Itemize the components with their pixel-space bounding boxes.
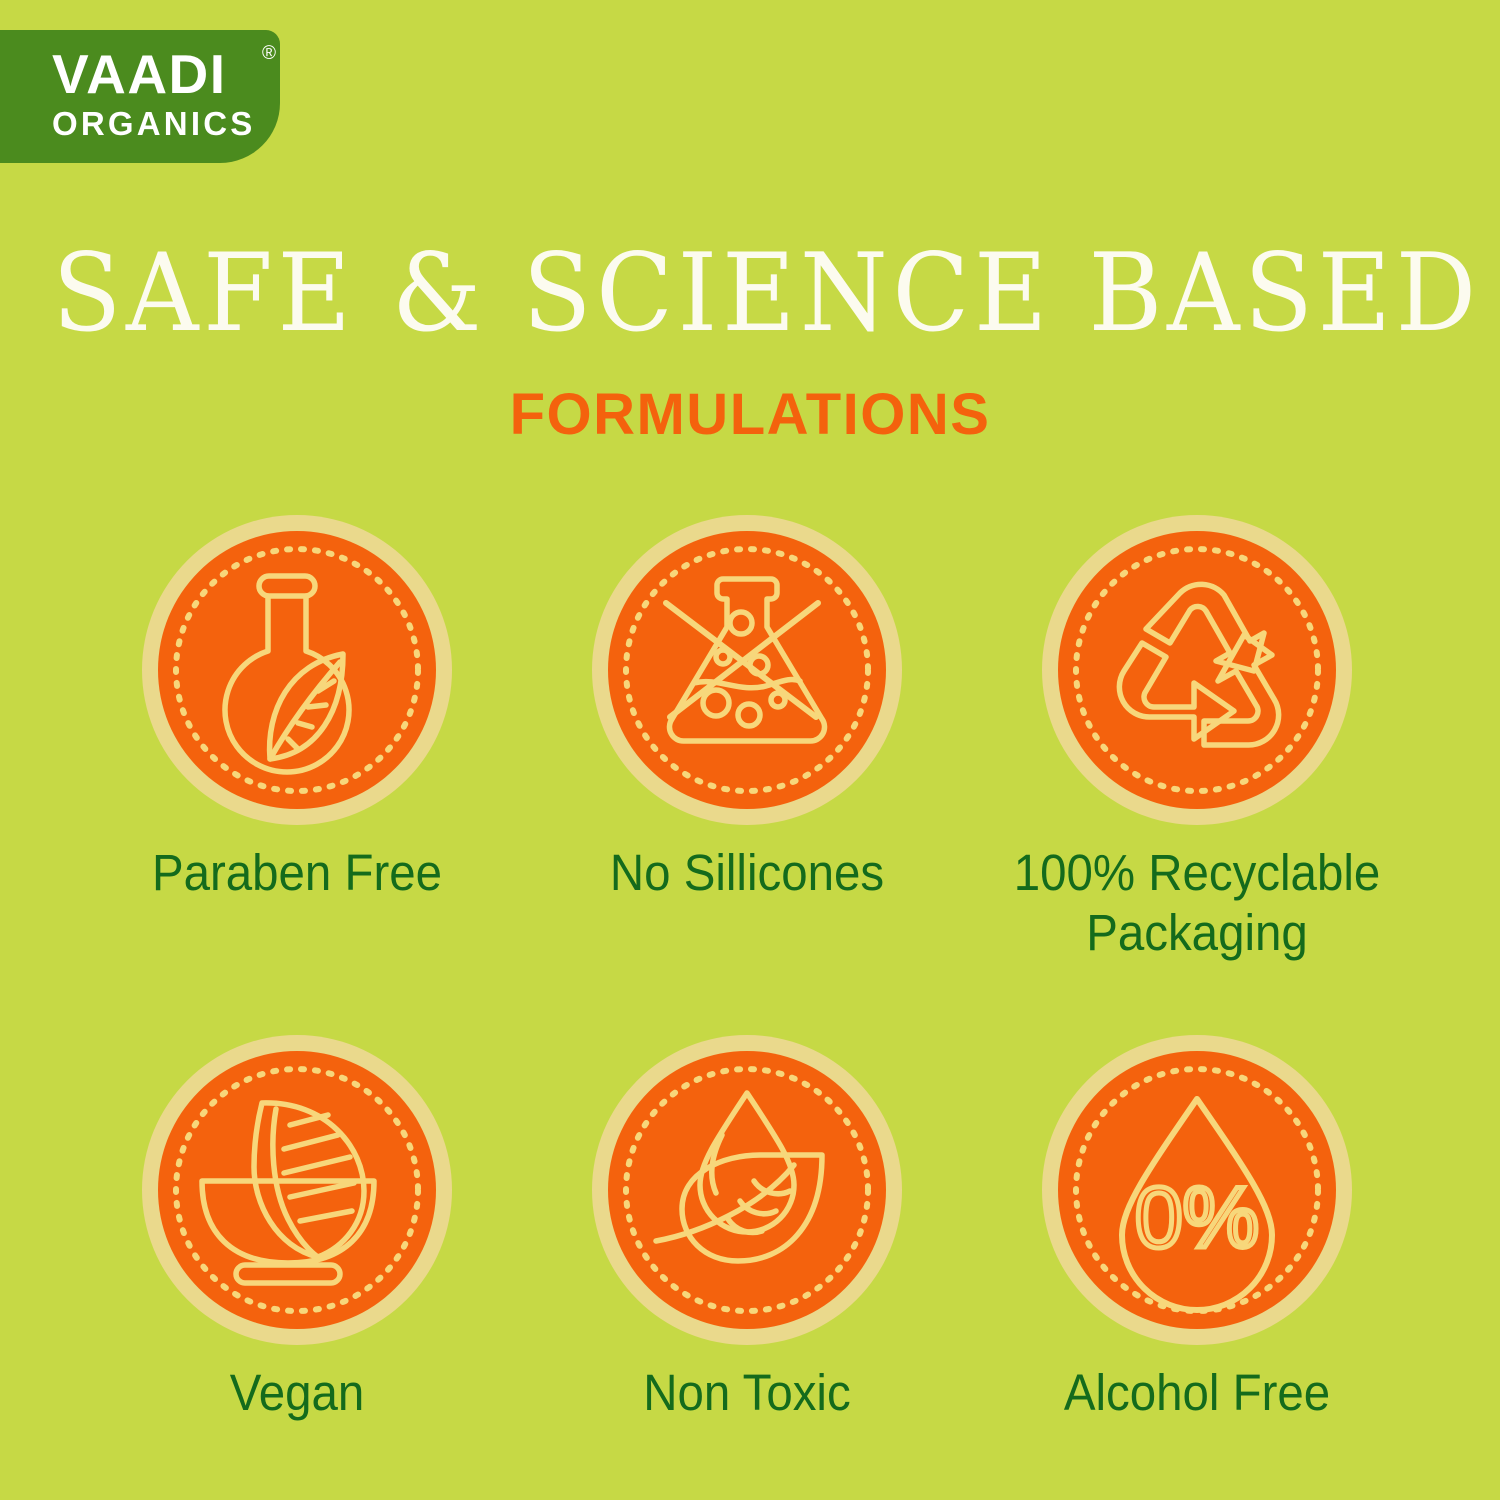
feature-badge (142, 1035, 452, 1345)
feature-badge (592, 1035, 902, 1345)
feature-label: Non Toxic (538, 1363, 957, 1423)
feature-label: Alcohol Free (988, 1363, 1407, 1423)
feature-label: 100% Recyclable Packaging (988, 843, 1407, 963)
brand-name: VAADI ® (52, 46, 255, 102)
feature-card-non-toxic: Non Toxic (522, 1035, 972, 1423)
droplet-on-leaf-icon (608, 1051, 886, 1329)
brand-name-text: VAADI (52, 43, 227, 105)
zero-percent-text: 0% (1135, 1170, 1259, 1266)
feature-badge (1042, 515, 1352, 825)
crossed-out-erlenmeyer-flask-icon (608, 531, 886, 809)
feature-label-line-2: Packaging (988, 903, 1407, 963)
recycle-icon (1058, 531, 1336, 809)
feature-card-vegan: Vegan (72, 1035, 522, 1423)
page-title: SAFE & SCIENCE BASED (53, 238, 1448, 350)
feature-card-recyclable-packaging: 100% Recyclable Packaging (972, 515, 1422, 963)
brand-tagline: ORGANICS (52, 104, 255, 144)
bowl-with-leaf-icon (158, 1051, 436, 1329)
feature-label: Paraben Free (88, 843, 507, 903)
feature-card-alcohol-free: 0% Alcohol Free (972, 1035, 1422, 1423)
feature-label-line-1: 100% Recyclable (988, 843, 1407, 903)
feature-card-no-sillicones: No Sillicones (522, 515, 972, 903)
registered-trademark-icon: ® (262, 44, 278, 63)
brand-logo-badge: VAADI ® ORGANICS (0, 30, 280, 163)
feature-badge: 0% (1042, 1035, 1352, 1345)
flask-with-leaf-icon (158, 531, 436, 809)
zero-percent-droplet-icon: 0% (1058, 1051, 1336, 1329)
feature-label: No Sillicones (538, 843, 957, 903)
feature-badge (592, 515, 902, 825)
feature-card-paraben-free: Paraben Free (72, 515, 522, 903)
page-subtitle: FORMULATIONS (0, 384, 1500, 446)
feature-badge (142, 515, 452, 825)
brand-logo-text: VAADI ® ORGANICS (52, 46, 255, 144)
feature-label: Vegan (88, 1363, 507, 1423)
